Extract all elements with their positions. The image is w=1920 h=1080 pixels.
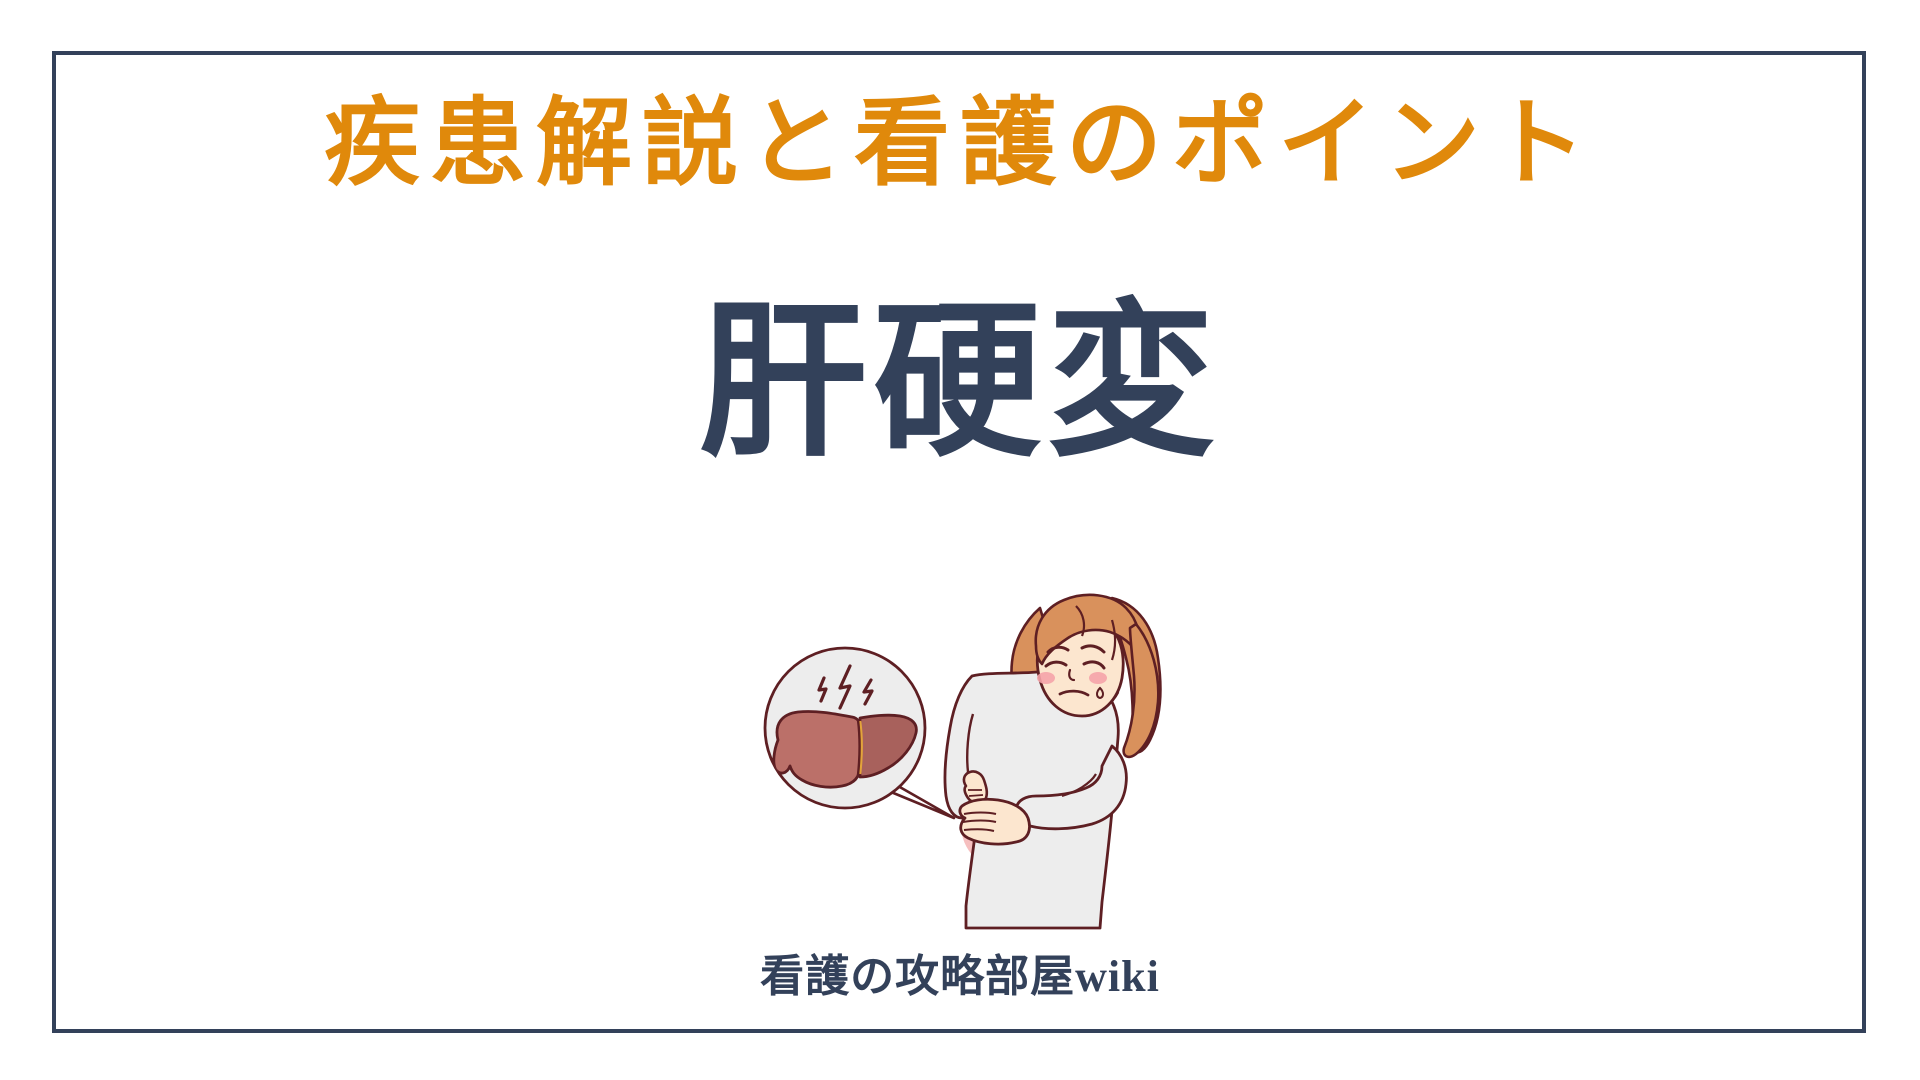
woman-with-liver-pain-illustration [740, 528, 1216, 948]
cheek-right [1089, 672, 1107, 684]
hand-upper [964, 771, 987, 802]
illustration-svg [740, 528, 1216, 948]
site-brand-footer: 看護の攻略部屋wiki [0, 955, 1920, 999]
page-title: 肝硬変 [0, 300, 1920, 468]
sweat-drop [1097, 688, 1103, 698]
woman-figure [945, 595, 1160, 928]
cheek-left [1037, 672, 1055, 684]
slide-canvas: 疾患解説と看護のポイント 肝硬変 [0, 0, 1920, 1080]
page-eyebrow-title: 疾患解説と看護のポイント [0, 96, 1920, 192]
speech-bubble-circle [765, 648, 954, 818]
